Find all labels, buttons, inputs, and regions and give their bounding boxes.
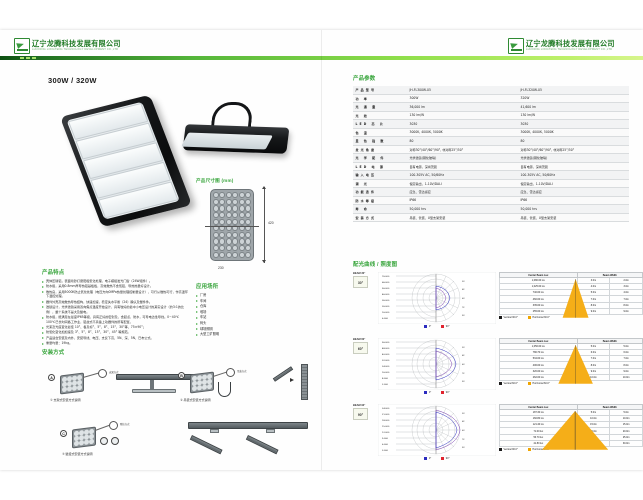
cone-legend-item: Horizontal 60.0° <box>528 382 550 385</box>
distribution-row-30deg: BEAM 30° 30° <box>353 272 643 334</box>
spec-table: 产品型号 JH-FL300W-05 JH-FL320W-05 功 率 300W … <box>353 86 629 222</box>
cone-legend-item: Vertical 60.0° <box>499 382 518 385</box>
beam-angle-box: 90° <box>353 408 368 420</box>
svg-text:56,000: 56,000 <box>382 288 390 290</box>
cone-width: 10.0m <box>577 374 610 380</box>
spec-value-300w: 80 <box>407 137 518 146</box>
installation-title: 安装方式 <box>42 348 310 356</box>
dimension-horizontal-line <box>205 226 259 227</box>
beam-cone-chart-90deg: Center Beam Lux Beam Width 187.30 lux 5.… <box>499 404 643 451</box>
spec-value-320w: 应急、雷达感应 <box>518 188 629 197</box>
dimension-arrow-bottom-icon <box>262 260 266 263</box>
spec-value-300w: JH-FL300W-05 <box>407 86 518 94</box>
polar-legend: 0° 90° <box>378 391 496 394</box>
spec-value-300w: 对称30°/40°/60°/90°, 非对称25°/50° <box>407 145 518 154</box>
spec-section: 产品参数 产品型号 JH-FL300W-05 JH-FL320W-05 功 率 … <box>353 74 629 222</box>
cone-legend: Vertical 60.0° Horizontal 60.0° <box>499 382 643 385</box>
beam-angle-box: 60° <box>353 342 368 354</box>
catalog-page-spread: 辽宁龙腾科技发展有限公司 LIAONING LONGTENG TECHNOLOG… <box>0 30 643 470</box>
spec-value-320w: 吊装、管装、U型支架安装 <box>518 213 629 222</box>
spec-value-320w: IP66 <box>518 196 629 205</box>
svg-text:40,000: 40,000 <box>382 354 390 356</box>
applications-title: 应用场所 <box>196 282 266 290</box>
spec-value-300w: 50,000 hrs <box>407 205 518 214</box>
table-row: LED 芯 片 3030 3030 <box>353 120 629 129</box>
polar-curve-chart-60deg: 56,00048,000 40,00032,000 24,00016,000 8… <box>378 338 496 394</box>
spec-value-320w: JH-FL320W-05 <box>518 86 629 94</box>
table-row: 光 效 130 lm/W 130 lm/W <box>353 111 629 120</box>
polar-curve-chart-30deg: 76,00066,000 56,00046,000 36,00026,000 1… <box>378 272 496 328</box>
company-logo-mark-icon <box>508 38 524 54</box>
install-truss-scene <box>188 422 308 456</box>
spec-label: 光 效 <box>353 111 407 120</box>
install-lamp-icon <box>72 427 96 449</box>
install-detail-circle <box>109 421 118 430</box>
beam-cone-chart-60deg: Center Beam Lux Beam Width 1,056.00 lux … <box>499 338 643 385</box>
install-pole <box>150 380 154 389</box>
install-caption-a: ① 支架式安装方式说明 <box>50 398 81 402</box>
left-page: 300W / 320W 产品尺寸图 (mm) <box>0 60 321 470</box>
spec-label: 输入电压 <box>353 171 407 180</box>
company-name-en: LIAONING LONGTENG TECHNOLOGY DEVELOPMENT… <box>32 49 121 52</box>
spec-title: 产品参数 <box>353 74 629 82</box>
svg-text:30°: 30° <box>462 347 465 349</box>
distribution-row-90deg: BEAM 90° 90° <box>353 404 643 466</box>
cone-lux: 255.00 lux <box>500 308 578 314</box>
spec-value-300w: 应急、雷达感应 <box>407 188 518 197</box>
svg-text:32,000: 32,000 <box>382 360 390 362</box>
svg-text:26,000: 26,000 <box>382 306 390 308</box>
polar-legend-item: 0° <box>424 391 431 394</box>
spec-label: 发光角度 <box>353 145 407 154</box>
dimension-width-label: 230 <box>218 266 224 270</box>
table-row: 防水等级 IP66 IP66 <box>353 196 629 205</box>
install-wall-scene <box>270 364 308 400</box>
table-row: 发光角度 对称30°/40°/60°/90°, 非对称25°/50° 对称30°… <box>353 145 629 154</box>
spec-label: 光 学 配 件 <box>353 154 407 163</box>
spec-value-320w: 100-305V AC, 50/60Hz <box>518 171 629 180</box>
dimension-title: 产品尺寸图 (mm) <box>196 178 306 184</box>
cone-lux: 41.80 lux <box>500 440 578 446</box>
svg-text:60°: 60° <box>462 298 465 300</box>
feature-item: 透镜设计，光学透镜采用双向焦点温度开始设计，具有较好的最中小电压设计的其实设计（… <box>42 305 188 315</box>
install-truss-beam <box>188 422 308 429</box>
install-u-bracket-icon <box>218 382 231 397</box>
install-base-plate <box>132 389 176 393</box>
right-page: 产品参数 产品型号 JH-FL300W-05 JH-FL320W-05 功 率 … <box>321 60 643 470</box>
svg-text:66,000: 66,000 <box>382 282 390 284</box>
svg-text:60°: 60° <box>462 430 465 432</box>
svg-text:76,000: 76,000 <box>382 276 390 278</box>
polar-legend: 0° 90° <box>378 457 496 460</box>
table-row: 色 温 3000K, 4000K, 5000K 3000K, 4000K, 50… <box>353 128 629 137</box>
spec-value-300w: 300W <box>407 94 518 103</box>
installation-diagrams: A 支架方式 ① 支架式安装方式说明 <box>42 360 310 464</box>
svg-text:24,000: 24,000 <box>382 366 390 368</box>
features-title: 产品特点 <box>42 268 188 276</box>
polar-curve-svg: 24,00021,000 18,00015,000 12,0009,000 6,… <box>378 404 496 456</box>
spec-value-320w: 自有电源，深圳茂硕 <box>518 162 629 171</box>
install-tilted-lamp <box>190 435 223 454</box>
product-photo-horizontal-lamp <box>178 96 296 174</box>
cone-table: Center Beam Lux Beam Width 1,056.00 lux … <box>499 338 643 381</box>
application-item: 大型工矿照明 <box>196 332 266 338</box>
feature-item: 防水级，采用0.8mm厚导热铝基板板，高效散热不含氧铝，导热热量好设计。 <box>42 284 188 289</box>
dimension-led-array <box>210 189 254 261</box>
cone-legend-item: Horizontal 90.0° <box>528 448 550 451</box>
cone-distance: 9.0m <box>610 308 643 314</box>
beam-cone-chart-30deg: Center Beam Lux Beam Width 1,080.00 lux … <box>499 272 643 319</box>
svg-text:18,000: 18,000 <box>382 420 390 422</box>
product-title: 300W / 320W <box>48 76 97 85</box>
svg-text:56,000: 56,000 <box>382 342 390 344</box>
table-row: 功 率 300W 320W <box>353 94 629 103</box>
install-badge-b: B <box>178 372 185 379</box>
spec-value-320w: 50,000 hrs <box>518 205 629 214</box>
svg-text:90°: 90° <box>462 381 465 383</box>
svg-text:45°: 45° <box>462 355 465 357</box>
polar-legend-item: 0° <box>424 457 431 460</box>
beam-angle-name: BEAM 60° <box>353 338 375 341</box>
cone-table: Center Beam Lux Beam Width 187.30 lux 5.… <box>499 404 643 447</box>
install-lamp-icon <box>60 373 84 395</box>
company-name-cn: 辽宁龙腾科技发展有限公司 <box>526 40 615 47</box>
applications-section: 应用场所 厂房 车间 仓库 堆场 车站 码头 球场照明 大型工矿照明 <box>196 282 266 338</box>
install-lamp-icon <box>190 372 214 394</box>
install-badge-a: A <box>48 374 55 381</box>
beam-angle-name: BEAM 30° <box>353 272 375 275</box>
cone-legend-item: Vertical 30.0° <box>499 316 518 319</box>
svg-text:16,000: 16,000 <box>382 312 390 314</box>
table-row: 功能选件 应急、雷达感应 应急、雷达感应 <box>353 188 629 197</box>
install-wall <box>301 364 308 400</box>
table-row: LED 电 源 自有电源，深圳茂硕 自有电源，深圳茂硕 <box>353 162 629 171</box>
polar-legend-item: 90° <box>441 325 449 328</box>
beam-angle-tag: BEAM 30° 30° <box>353 272 375 288</box>
spec-label: 功 率 <box>353 94 407 103</box>
polar-legend-item: 0° <box>424 325 431 328</box>
spec-value-320w: 恒定输出，1-10V/DALI <box>518 179 629 188</box>
beam-angle-box: 30° <box>353 276 368 288</box>
install-mount-plate <box>266 429 275 433</box>
spec-value-300w: 100-305V AC, 50/60Hz <box>407 171 518 180</box>
spec-value-300w: 吊装、管装、U型支架安装 <box>407 213 518 222</box>
svg-text:6,000: 6,000 <box>382 444 389 446</box>
applications-list: 厂房 车间 仓库 堆场 车站 码头 球场照明 大型工矿照明 <box>196 293 266 338</box>
install-caption-b: ② 吊装式安装方式说明 <box>180 398 211 402</box>
spec-value-320w: 3030 <box>518 120 629 129</box>
spec-value-320w: 3000K, 4000K, 5000K <box>518 128 629 137</box>
lamp-led-panel <box>181 133 273 150</box>
install-leader-line <box>213 372 226 377</box>
svg-text:6,000: 6,000 <box>382 318 389 320</box>
polar-legend-item: 90° <box>441 391 449 394</box>
install-badge-c: C <box>60 430 67 437</box>
svg-text:90°: 90° <box>462 315 465 317</box>
svg-text:75°: 75° <box>462 373 465 375</box>
feature-item: 产品适合安装及内外，安装导线、电压、支反下高、5N、深、5N、已布公式。 <box>42 336 188 341</box>
svg-text:75°: 75° <box>462 307 465 309</box>
table-row: 262.00 lux 10.0m 10.0m <box>500 374 643 380</box>
svg-text:36,000: 36,000 <box>382 300 390 302</box>
install-tilted-lamp <box>246 435 279 454</box>
table-row: 255.00 lux 9.0m 9.0m <box>500 308 643 314</box>
svg-text:15,000: 15,000 <box>382 426 390 428</box>
beam-angle-tag: BEAM 60° 60° <box>353 338 375 354</box>
floodlight-led-panel <box>67 102 180 220</box>
polar-curve-svg: 76,00066,000 56,00046,000 36,00026,000 1… <box>378 272 496 324</box>
feature-item: 重量均量：19kg。 <box>42 341 188 346</box>
cone-width: 9.0m <box>577 308 610 314</box>
spec-value-320w: 对称30°/40°/60°/90°, 非对称25°/50° <box>518 145 629 154</box>
table-row: 安装方式 吊装、管装、U型支架安装 吊装、管装、U型支架安装 <box>353 213 629 222</box>
company-logo-mark-icon <box>14 38 30 54</box>
spec-label: 显 色 指 数 <box>353 137 407 146</box>
cone-table: Center Beam Lux Beam Width 1,080.00 lux … <box>499 272 643 315</box>
install-leader-line <box>95 425 109 431</box>
svg-text:3,000: 3,000 <box>382 450 389 452</box>
install-mount-plate <box>210 429 219 433</box>
installation-section: 安装方式 A 支架方式 ① 支架式安装方式说明 <box>42 348 310 466</box>
spec-value-300w: 3000K, 4000K, 5000K <box>407 128 518 137</box>
dimension-height-label: 420 <box>268 221 274 225</box>
dimension-drawing: 产品尺寸图 (mm) 420 230 <box>196 178 306 273</box>
svg-text:9,000: 9,000 <box>382 438 389 440</box>
spec-label: 色 温 <box>353 128 407 137</box>
install-leader-line <box>83 373 99 378</box>
distribution-row-60deg: BEAM 60° 60° <box>353 338 643 400</box>
features-list: 壳体压铸铝，表面喷砂打磨阳极氧化处理，电子模组发光门窗（24W组件）。 防水级，… <box>42 279 188 346</box>
install-fixing-part-icon <box>100 437 108 445</box>
spec-label: LED 芯 片 <box>353 120 407 129</box>
distribution-title: 配光曲线 / 照度图 <box>353 260 643 268</box>
spec-label: 安装方式 <box>353 213 407 222</box>
beam-angle-name: BEAM 90° <box>353 404 375 407</box>
install-caption-c: ③ 壁挂式安装方式说明 <box>62 452 93 456</box>
feature-item: 防氧化变化加加速及 3°、5°、8°、15°、30°、45° 等规范。 <box>42 330 188 335</box>
install-detail-circle <box>226 368 235 377</box>
company-name-cn: 辽宁龙腾科技发展有限公司 <box>32 40 121 47</box>
spec-value-300w: 3030 <box>407 120 518 129</box>
install-lead-label: 壁挂方式 <box>120 422 130 426</box>
cone-lux: 262.00 lux <box>500 374 578 380</box>
install-fixing-part-icon <box>111 437 119 445</box>
company-logo-left: 辽宁龙腾科技发展有限公司 LIAONING LONGTENG TECHNOLOG… <box>14 38 121 54</box>
spec-value-320w: 320W <box>518 94 629 103</box>
svg-text:24,000: 24,000 <box>382 408 390 410</box>
table-row: 光 通 量 36,000 lm 41,600 lm <box>353 103 629 112</box>
table-row: 寿 命 50,000 hrs 50,000 hrs <box>353 205 629 214</box>
svg-text:8,000: 8,000 <box>382 378 389 380</box>
cone-width: 30.0m <box>577 440 610 446</box>
svg-text:45°: 45° <box>462 421 465 423</box>
product-features-section: 产品特点 壳体压铸铝，表面喷砂打磨阳极氧化处理，电子模组发光门窗（24W组件）。… <box>42 268 188 346</box>
spec-label: LED 电 源 <box>353 162 407 171</box>
feature-item: 器件外壳高效散热导热结构，快速加速，稳定失水平衡（24）确认及塑件件。 <box>42 300 188 305</box>
spec-value-300w: 36,000 lm <box>407 103 518 112</box>
spec-label: 调 光 <box>353 179 407 188</box>
table-row: 显 色 指 数 80 80 <box>353 137 629 146</box>
spec-value-320w: 130 lm/W <box>518 111 629 120</box>
feature-item: 散热良，采用5000K防止氧化处理（电压方向0MPa热量处理控制量设计），可行从… <box>42 290 188 300</box>
table-row: 输入电压 100-305V AC, 50/60Hz 100-305V AC, 5… <box>353 171 629 180</box>
cone-legend-item: Vertical 90.0° <box>499 448 518 451</box>
table-row: 41.80 lux 30.0m 30.0m <box>500 440 643 446</box>
spec-label: 寿 命 <box>353 205 407 214</box>
svg-text:46,000: 46,000 <box>382 294 390 296</box>
install-arrow-icon <box>290 378 294 382</box>
table-row: 产品型号 JH-FL300W-05 JH-FL320W-05 <box>353 86 629 94</box>
svg-text:45°: 45° <box>462 289 465 291</box>
feature-item: 防水级，能满足在最度IP65等级，具有正好的密封及，含起点，防水，可导电达性导线… <box>42 315 188 325</box>
spec-label: 产品型号 <box>353 86 407 94</box>
svg-text:2,000: 2,000 <box>382 384 389 386</box>
light-distribution-section: 配光曲线 / 照度图 BEAM 30° 30° <box>353 260 643 460</box>
company-logo-right: 辽宁龙腾科技发展有限公司 LIAONING LONGTENG TECHNOLOG… <box>508 38 615 54</box>
polar-legend: 0° 90° <box>378 325 496 328</box>
polar-legend-item: 90° <box>441 457 449 460</box>
spec-value-300w: 自有电源，深圳茂硕 <box>407 162 518 171</box>
svg-text:30°: 30° <box>462 413 465 415</box>
svg-text:48,000: 48,000 <box>382 348 390 350</box>
distribution-rows: BEAM 30° 30° <box>353 272 643 466</box>
dimension-vertical-line <box>264 187 265 263</box>
cone-legend: Vertical 30.0° Horizontal 30.0° <box>499 316 643 319</box>
polar-curve-chart-90deg: 24,00021,000 18,00015,000 12,0009,000 6,… <box>378 404 496 460</box>
svg-text:90°: 90° <box>462 447 465 449</box>
table-row: 光 学 配 件 光学透镜(钢化玻璃) 光学透镜(钢化玻璃) <box>353 154 629 163</box>
cone-legend: Vertical 90.0° Horizontal 90.0° <box>499 448 643 451</box>
spec-value-300w: IP66 <box>407 196 518 205</box>
spec-value-320w: 光学透镜(钢化玻璃) <box>518 154 629 163</box>
cone-distance: 10.0m <box>610 374 643 380</box>
spec-label: 光 通 量 <box>353 103 407 112</box>
svg-text:75°: 75° <box>462 439 465 441</box>
spec-label: 功能选件 <box>353 188 407 197</box>
svg-text:21,000: 21,000 <box>382 414 390 416</box>
svg-text:30°: 30° <box>462 281 465 283</box>
spec-label: 防水等级 <box>353 196 407 205</box>
header-bar-ticks <box>20 57 36 60</box>
install-diagram-c: C 壁挂方式 ③ 壁挂式安装方式说明 <box>60 420 178 462</box>
svg-text:60°: 60° <box>462 364 465 366</box>
svg-text:16,000: 16,000 <box>382 372 390 374</box>
spec-value-300w: 130 lm/W <box>407 111 518 120</box>
spec-value-320w: 41,600 lm <box>518 103 629 112</box>
spec-value-320w: 80 <box>518 137 629 146</box>
spec-value-300w: 光学透镜(钢化玻璃) <box>407 154 518 163</box>
polar-curve-svg: 56,00048,000 40,00032,000 24,00016,000 8… <box>378 338 496 390</box>
table-row: 调 光 恒定输出，1-10V/DALI 恒定输出，1-10V/DALI <box>353 179 629 188</box>
install-detail-circle <box>98 369 107 378</box>
install-diagram-b: B 吊装方式 ② 吊装式安装方式说明 <box>178 368 270 410</box>
company-name-en: LIAONING LONGTENG TECHNOLOGY DEVELOPMENT… <box>526 49 615 52</box>
install-lead-label: 吊装方式 <box>237 369 247 373</box>
svg-text:12,000: 12,000 <box>382 432 390 434</box>
floodlight-housing <box>60 95 192 228</box>
dimension-arrow-top-icon <box>262 186 266 189</box>
cone-distance: 30.0m <box>610 440 643 446</box>
cone-legend-item: Horizontal 30.0° <box>528 316 550 319</box>
beam-angle-tag: BEAM 90° 90° <box>353 404 375 420</box>
spec-value-300w: 恒定输出，1-10V/DALI <box>407 179 518 188</box>
